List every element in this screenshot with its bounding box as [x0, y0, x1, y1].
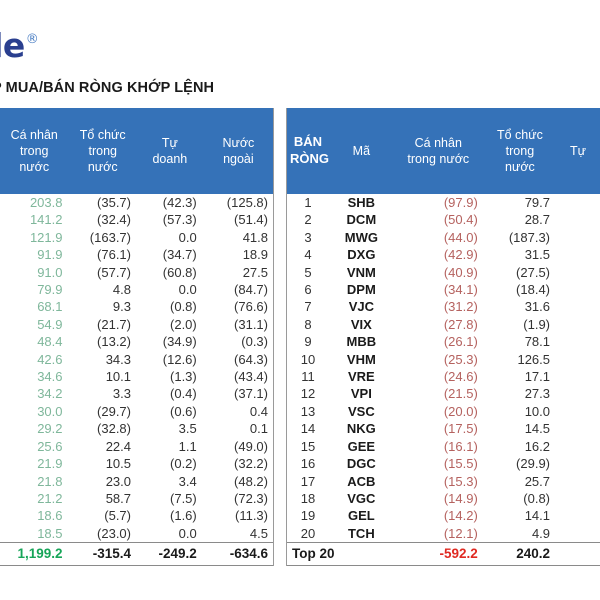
- cell-rank: 20: [286, 525, 330, 543]
- cell-nuoc-ngoai: 18.9: [203, 246, 274, 263]
- cell-to-chuc-trong-nuoc: 10.0: [484, 403, 556, 420]
- cell-ca-nhan-trong-nuoc: 91.0: [0, 264, 69, 281]
- net-sell-table-header: BÁN RÒNG Mã Cá nhân trong nước Tổ chức t…: [286, 108, 600, 194]
- cell-to-chuc-trong-nuoc: 10.1: [69, 368, 138, 385]
- cell-ma[interactable]: VSC: [330, 403, 393, 420]
- cell-ma[interactable]: VNM: [330, 264, 393, 281]
- net-sell-table-body: 1SHB(97.9)79.72DCM(50.4)28.73MWG(44.0)(1…: [286, 194, 600, 543]
- cell-to-chuc-trong-nuoc: 4.8: [69, 281, 138, 298]
- cell-rank: 8: [286, 316, 330, 333]
- cell-tu-doanh-truncated: [556, 438, 600, 455]
- cell-tu-doanh: (0.4): [137, 385, 203, 402]
- total-label-top20: Top 20: [286, 543, 393, 566]
- cell-rank: 17: [286, 473, 330, 490]
- cell-tu-doanh: (12.6): [137, 351, 203, 368]
- table-row: 10VHM(25.3)126.5: [286, 351, 600, 368]
- cell-tu-doanh-truncated: [556, 455, 600, 472]
- cell-ma[interactable]: VGC: [330, 490, 393, 507]
- cell-ca-nhan-trong-nuoc: 54.9: [0, 316, 69, 333]
- total-to-chuc-trong-nuoc: -315.4: [69, 543, 138, 566]
- net-buy-panel: Cá nhân trong nước Tổ chức trong nước Tự…: [0, 108, 274, 566]
- net-sell-table-footer: Top 20 -592.2 240.2: [286, 543, 600, 566]
- logo-wordmark: ade: [0, 29, 25, 62]
- cell-nuoc-ngoai: (11.3): [203, 507, 274, 524]
- header-label: Mã: [353, 144, 370, 158]
- cell-rank: 14: [286, 420, 330, 437]
- table-row: 34.610.1(1.3)(43.4): [0, 368, 274, 385]
- cell-rank: 18: [286, 490, 330, 507]
- cell-to-chuc-trong-nuoc: (57.7): [69, 264, 138, 281]
- table-row: 13VSC(20.0)10.0: [286, 403, 600, 420]
- cell-nuoc-ngoai: (37.1): [203, 385, 274, 402]
- cell-to-chuc-trong-nuoc: (76.1): [69, 246, 138, 263]
- cell-to-chuc-trong-nuoc: (18.4): [484, 281, 556, 298]
- cell-ca-nhan-trong-nuoc: (16.1): [393, 438, 484, 455]
- cell-to-chuc-trong-nuoc: (0.8): [484, 490, 556, 507]
- total-nuoc-ngoai: -634.6: [203, 543, 274, 566]
- cell-nuoc-ngoai: (51.4): [203, 211, 274, 228]
- table-row: 7VJC(31.2)31.6: [286, 298, 600, 315]
- cell-ca-nhan-trong-nuoc: (25.3): [393, 351, 484, 368]
- col-header-tu-doanh: Tự doanh: [137, 108, 203, 194]
- net-buy-table-body: 203.8(35.7)(42.3)(125.8)141.2(32.4)(57.3…: [0, 194, 274, 543]
- cell-to-chuc-trong-nuoc: (35.7): [69, 194, 138, 211]
- header-label: Cá nhân trong nước: [407, 136, 469, 166]
- header-label: BÁN RÒNG: [290, 134, 329, 166]
- cell-to-chuc-trong-nuoc: (21.7): [69, 316, 138, 333]
- table-row: 79.94.80.0(84.7): [0, 281, 274, 298]
- cell-ca-nhan-trong-nuoc: 34.6: [0, 368, 69, 385]
- table-row: 91.9(76.1)(34.7)18.9: [0, 246, 274, 263]
- cell-ma[interactable]: VPI: [330, 385, 393, 402]
- cell-rank: 15: [286, 438, 330, 455]
- cell-to-chuc-trong-nuoc: (163.7): [69, 229, 138, 246]
- table-row: 34.23.3(0.4)(37.1): [0, 385, 274, 402]
- cell-tu-doanh: 0.0: [137, 229, 203, 246]
- brand-logo: ade ®: [0, 26, 39, 62]
- cell-to-chuc-trong-nuoc: (187.3): [484, 229, 556, 246]
- cell-rank: 3: [286, 229, 330, 246]
- cell-tu-doanh-truncated: [556, 385, 600, 402]
- cell-to-chuc-trong-nuoc: (13.2): [69, 333, 138, 350]
- total-tu-doanh-blank: [556, 543, 600, 566]
- cell-ma[interactable]: ACB: [330, 473, 393, 490]
- cell-rank: 10: [286, 351, 330, 368]
- cell-tu-doanh: 0.0: [137, 525, 203, 543]
- cell-to-chuc-trong-nuoc: 16.2: [484, 438, 556, 455]
- cell-nuoc-ngoai: (48.2): [203, 473, 274, 490]
- cell-ca-nhan-trong-nuoc: 30.0: [0, 403, 69, 420]
- table-row: 91.0(57.7)(60.8)27.5: [0, 264, 274, 281]
- table-row: 2DCM(50.4)28.7: [286, 211, 600, 228]
- table-row: 15GEE(16.1)16.2: [286, 438, 600, 455]
- cell-to-chuc-trong-nuoc: (29.9): [484, 455, 556, 472]
- cell-to-chuc-trong-nuoc: (5.7): [69, 507, 138, 524]
- cell-tu-doanh-truncated: [556, 507, 600, 524]
- cell-to-chuc-trong-nuoc: (29.7): [69, 403, 138, 420]
- cell-tu-doanh-truncated: [556, 281, 600, 298]
- cell-tu-doanh: (1.3): [137, 368, 203, 385]
- cell-to-chuc-trong-nuoc: 78.1: [484, 333, 556, 350]
- cell-ca-nhan-trong-nuoc: (97.9): [393, 194, 484, 211]
- cell-to-chuc-trong-nuoc: 3.3: [69, 385, 138, 402]
- cell-ma[interactable]: NKG: [330, 420, 393, 437]
- cell-ma[interactable]: MBB: [330, 333, 393, 350]
- cell-to-chuc-trong-nuoc: (1.9): [484, 316, 556, 333]
- table-row: 29.2(32.8)3.50.1: [0, 420, 274, 437]
- cell-tu-doanh-truncated: [556, 316, 600, 333]
- table-row: 8VIX(27.8)(1.9): [286, 316, 600, 333]
- total-to-chuc-trong-nuoc: 240.2: [484, 543, 556, 566]
- cell-tu-doanh: (0.8): [137, 298, 203, 315]
- cell-ca-nhan-trong-nuoc: (21.5): [393, 385, 484, 402]
- cell-to-chuc-trong-nuoc: (32.4): [69, 211, 138, 228]
- cell-ma[interactable]: VRE: [330, 368, 393, 385]
- cell-ca-nhan-trong-nuoc: (27.8): [393, 316, 484, 333]
- header-row: Cá nhân trong nước Tổ chức trong nước Tự…: [0, 108, 274, 194]
- cell-tu-doanh: (57.3): [137, 211, 203, 228]
- table-row: 30.0(29.7)(0.6)0.4: [0, 403, 274, 420]
- table-row: 5VNM(40.9)(27.5): [286, 264, 600, 281]
- cell-ca-nhan-trong-nuoc: (15.3): [393, 473, 484, 490]
- cell-ma[interactable]: VHM: [330, 351, 393, 368]
- cell-to-chuc-trong-nuoc: 9.3: [69, 298, 138, 315]
- cell-tu-doanh-truncated: [556, 264, 600, 281]
- col-header-ma: Mã: [330, 108, 393, 194]
- header-label: Tự doanh: [152, 136, 187, 166]
- cell-ca-nhan-trong-nuoc: 18.5: [0, 525, 69, 543]
- col-header-to-chuc-trong-nuoc: Tổ chức trong nước: [69, 108, 138, 194]
- table-row: 20TCH(12.1)4.9: [286, 525, 600, 543]
- cell-tu-doanh-truncated: [556, 473, 600, 490]
- table-row: 18.5(23.0)0.04.5: [0, 525, 274, 543]
- table-row: 141.2(32.4)(57.3)(51.4): [0, 211, 274, 228]
- cell-ca-nhan-trong-nuoc: 79.9: [0, 281, 69, 298]
- cell-rank: 7: [286, 298, 330, 315]
- cell-ca-nhan-trong-nuoc: 203.8: [0, 194, 69, 211]
- registered-trademark-icon: ®: [26, 33, 39, 46]
- table-row: 19GEL(14.2)14.1: [286, 507, 600, 524]
- table-row: 48.4(13.2)(34.9)(0.3): [0, 333, 274, 350]
- cell-nuoc-ngoai: (32.2): [203, 455, 274, 472]
- cell-ca-nhan-trong-nuoc: (44.0): [393, 229, 484, 246]
- cell-tu-doanh-truncated: [556, 490, 600, 507]
- cell-rank: 2: [286, 211, 330, 228]
- cell-nuoc-ngoai: (49.0): [203, 438, 274, 455]
- header-label: Tổ chức trong nước: [497, 128, 543, 174]
- table-row: 3MWG(44.0)(187.3): [286, 229, 600, 246]
- table-row: 14NKG(17.5)14.5: [286, 420, 600, 437]
- net-sell-panel: BÁN RÒNG Mã Cá nhân trong nước Tổ chức t…: [286, 108, 600, 566]
- col-header-ban-rong: BÁN RÒNG: [286, 108, 330, 194]
- totals-row: Top 20 -592.2 240.2: [286, 543, 600, 566]
- cell-tu-doanh: 1.1: [137, 438, 203, 455]
- cell-tu-doanh-truncated: [556, 298, 600, 315]
- cell-rank: 11: [286, 368, 330, 385]
- col-header-tu-doanh-truncated: Tự: [556, 108, 600, 194]
- cell-ma[interactable]: DCM: [330, 211, 393, 228]
- cell-nuoc-ngoai: 41.8: [203, 229, 274, 246]
- cell-tu-doanh-truncated: [556, 194, 600, 211]
- cell-ca-nhan-trong-nuoc: 141.2: [0, 211, 69, 228]
- cell-to-chuc-trong-nuoc: 25.7: [484, 473, 556, 490]
- cell-tu-doanh: (34.7): [137, 246, 203, 263]
- cell-tu-doanh-truncated: [556, 351, 600, 368]
- table-row: 68.19.3(0.8)(76.6): [0, 298, 274, 315]
- cell-nuoc-ngoai: 4.5: [203, 525, 274, 543]
- header-label: Nước ngoài: [222, 136, 254, 166]
- table-row: 6DPM(34.1)(18.4): [286, 281, 600, 298]
- net-buy-table-header: Cá nhân trong nước Tổ chức trong nước Tự…: [0, 108, 274, 194]
- cell-to-chuc-trong-nuoc: 22.4: [69, 438, 138, 455]
- col-header-ca-nhan-trong-nuoc: Cá nhân trong nước: [393, 108, 484, 194]
- cell-to-chuc-trong-nuoc: 14.1: [484, 507, 556, 524]
- cell-nuoc-ngoai: (84.7): [203, 281, 274, 298]
- cell-ma[interactable]: DXG: [330, 246, 393, 263]
- cell-rank: 19: [286, 507, 330, 524]
- totals-row: 1,199.2 -315.4 -249.2 -634.6: [0, 543, 274, 566]
- table-row: 1SHB(97.9)79.7: [286, 194, 600, 211]
- cell-ca-nhan-trong-nuoc: 18.6: [0, 507, 69, 524]
- cell-ca-nhan-trong-nuoc: 48.4: [0, 333, 69, 350]
- cell-tu-doanh: (1.6): [137, 507, 203, 524]
- cell-ca-nhan-trong-nuoc: (42.9): [393, 246, 484, 263]
- cell-nuoc-ngoai: 27.5: [203, 264, 274, 281]
- cell-nuoc-ngoai: (64.3): [203, 351, 274, 368]
- panel-divider: [286, 108, 287, 566]
- cell-ca-nhan-trong-nuoc: (31.2): [393, 298, 484, 315]
- cell-nuoc-ngoai: 0.1: [203, 420, 274, 437]
- col-header-ca-nhan-trong-nuoc: Cá nhân trong nước: [0, 108, 69, 194]
- page-title: P MUA/BÁN RÒNG KHỚP LỆNH: [0, 80, 214, 96]
- cell-ca-nhan-trong-nuoc: (34.1): [393, 281, 484, 298]
- cell-to-chuc-trong-nuoc: 27.3: [484, 385, 556, 402]
- cell-to-chuc-trong-nuoc: 34.3: [69, 351, 138, 368]
- cell-ma[interactable]: DPM: [330, 281, 393, 298]
- cell-to-chuc-trong-nuoc: 28.7: [484, 211, 556, 228]
- table-row: 18VGC(14.9)(0.8): [286, 490, 600, 507]
- cell-tu-doanh-truncated: [556, 229, 600, 246]
- cell-ca-nhan-trong-nuoc: (14.9): [393, 490, 484, 507]
- cell-ca-nhan-trong-nuoc: 21.8: [0, 473, 69, 490]
- cell-ma[interactable]: GEL: [330, 507, 393, 524]
- table-row: 16DGC(15.5)(29.9): [286, 455, 600, 472]
- total-ca-nhan-trong-nuoc: -592.2: [393, 543, 484, 566]
- cell-tu-doanh: 3.4: [137, 473, 203, 490]
- cell-ca-nhan-trong-nuoc: (50.4): [393, 211, 484, 228]
- cell-to-chuc-trong-nuoc: 23.0: [69, 473, 138, 490]
- cell-ma[interactable]: TCH: [330, 525, 393, 543]
- table-row: 25.622.41.1(49.0): [0, 438, 274, 455]
- cell-nuoc-ngoai: (43.4): [203, 368, 274, 385]
- table-row: 12VPI(21.5)27.3: [286, 385, 600, 402]
- cell-tu-doanh-truncated: [556, 368, 600, 385]
- cell-ca-nhan-trong-nuoc: (20.0): [393, 403, 484, 420]
- cell-ca-nhan-trong-nuoc: (14.2): [393, 507, 484, 524]
- cell-ma[interactable]: GEE: [330, 438, 393, 455]
- table-row: 21.910.5(0.2)(32.2): [0, 455, 274, 472]
- cell-ma[interactable]: DGC: [330, 455, 393, 472]
- cell-tu-doanh: (7.5): [137, 490, 203, 507]
- cell-rank: 5: [286, 264, 330, 281]
- cell-tu-doanh-truncated: [556, 246, 600, 263]
- cell-ca-nhan-trong-nuoc: 91.9: [0, 246, 69, 263]
- cell-tu-doanh-truncated: [556, 333, 600, 350]
- cell-nuoc-ngoai: (72.3): [203, 490, 274, 507]
- cell-tu-doanh: 3.5: [137, 420, 203, 437]
- cell-nuoc-ngoai: (125.8): [203, 194, 274, 211]
- cell-tu-doanh-truncated: [556, 211, 600, 228]
- cell-ca-nhan-trong-nuoc: (17.5): [393, 420, 484, 437]
- cell-nuoc-ngoai: (31.1): [203, 316, 274, 333]
- cell-ca-nhan-trong-nuoc: 21.2: [0, 490, 69, 507]
- cell-nuoc-ngoai: (0.3): [203, 333, 274, 350]
- header-label: Tự: [570, 144, 586, 158]
- cell-ca-nhan-trong-nuoc: (15.5): [393, 455, 484, 472]
- cell-rank: 4: [286, 246, 330, 263]
- cell-tu-doanh: (60.8): [137, 264, 203, 281]
- table-row: 4DXG(42.9)31.5: [286, 246, 600, 263]
- cell-to-chuc-trong-nuoc: (32.8): [69, 420, 138, 437]
- cell-tu-doanh: 0.0: [137, 281, 203, 298]
- cell-tu-doanh-truncated: [556, 525, 600, 543]
- table-row: 21.823.03.4(48.2): [0, 473, 274, 490]
- cell-tu-doanh-truncated: [556, 420, 600, 437]
- table-row: 17ACB(15.3)25.7: [286, 473, 600, 490]
- cell-ma[interactable]: VIX: [330, 316, 393, 333]
- table-row: 42.634.3(12.6)(64.3): [0, 351, 274, 368]
- cell-to-chuc-trong-nuoc: 79.7: [484, 194, 556, 211]
- tables-container: Cá nhân trong nước Tổ chức trong nước Tự…: [0, 108, 600, 566]
- cell-ca-nhan-trong-nuoc: 42.6: [0, 351, 69, 368]
- total-ca-nhan-trong-nuoc: 1,199.2: [0, 543, 69, 566]
- cell-rank: 1: [286, 194, 330, 211]
- cell-ca-nhan-trong-nuoc: 29.2: [0, 420, 69, 437]
- table-row: 18.6(5.7)(1.6)(11.3): [0, 507, 274, 524]
- header-row: BÁN RÒNG Mã Cá nhân trong nước Tổ chức t…: [286, 108, 600, 194]
- cell-ma[interactable]: SHB: [330, 194, 393, 211]
- cell-ca-nhan-trong-nuoc: (12.1): [393, 525, 484, 543]
- cell-to-chuc-trong-nuoc: 4.9: [484, 525, 556, 543]
- header-label: Cá nhân trong nước: [11, 128, 58, 174]
- cell-to-chuc-trong-nuoc: (23.0): [69, 525, 138, 543]
- panel-divider: [273, 108, 274, 566]
- cell-nuoc-ngoai: (76.6): [203, 298, 274, 315]
- cell-ca-nhan-trong-nuoc: 121.9: [0, 229, 69, 246]
- net-buy-table: Cá nhân trong nước Tổ chức trong nước Tự…: [0, 108, 274, 566]
- cell-rank: 12: [286, 385, 330, 402]
- cell-rank: 16: [286, 455, 330, 472]
- net-buy-table-footer: 1,199.2 -315.4 -249.2 -634.6: [0, 543, 274, 566]
- table-row: 21.258.7(7.5)(72.3): [0, 490, 274, 507]
- cell-ca-nhan-trong-nuoc: 21.9: [0, 455, 69, 472]
- cell-ca-nhan-trong-nuoc: (40.9): [393, 264, 484, 281]
- cell-tu-doanh: (0.6): [137, 403, 203, 420]
- cell-ca-nhan-trong-nuoc: 68.1: [0, 298, 69, 315]
- cell-ca-nhan-trong-nuoc: 34.2: [0, 385, 69, 402]
- cell-nuoc-ngoai: 0.4: [203, 403, 274, 420]
- cell-tu-doanh: (0.2): [137, 455, 203, 472]
- table-row: 203.8(35.7)(42.3)(125.8): [0, 194, 274, 211]
- cell-tu-doanh-truncated: [556, 403, 600, 420]
- cell-ca-nhan-trong-nuoc: 25.6: [0, 438, 69, 455]
- table-row: 121.9(163.7)0.041.8: [0, 229, 274, 246]
- cell-ca-nhan-trong-nuoc: (24.6): [393, 368, 484, 385]
- cell-tu-doanh: (34.9): [137, 333, 203, 350]
- cell-to-chuc-trong-nuoc: (27.5): [484, 264, 556, 281]
- table-row: 11VRE(24.6)17.1: [286, 368, 600, 385]
- cell-to-chuc-trong-nuoc: 31.5: [484, 246, 556, 263]
- cell-rank: 9: [286, 333, 330, 350]
- cell-to-chuc-trong-nuoc: 126.5: [484, 351, 556, 368]
- table-row: 54.9(21.7)(2.0)(31.1): [0, 316, 274, 333]
- cell-to-chuc-trong-nuoc: 14.5: [484, 420, 556, 437]
- cell-to-chuc-trong-nuoc: 10.5: [69, 455, 138, 472]
- col-header-to-chuc-trong-nuoc: Tổ chức trong nước: [484, 108, 556, 194]
- cell-ma[interactable]: VJC: [330, 298, 393, 315]
- cell-tu-doanh: (2.0): [137, 316, 203, 333]
- table-row: 9MBB(26.1)78.1: [286, 333, 600, 350]
- cell-to-chuc-trong-nuoc: 17.1: [484, 368, 556, 385]
- cell-rank: 13: [286, 403, 330, 420]
- net-sell-table: BÁN RÒNG Mã Cá nhân trong nước Tổ chức t…: [286, 108, 600, 566]
- total-tu-doanh: -249.2: [137, 543, 203, 566]
- cell-ma[interactable]: MWG: [330, 229, 393, 246]
- cell-tu-doanh: (42.3): [137, 194, 203, 211]
- cell-to-chuc-trong-nuoc: 58.7: [69, 490, 138, 507]
- header-label: Tổ chức trong nước: [80, 128, 126, 174]
- col-header-nuoc-ngoai: Nước ngoài: [203, 108, 274, 194]
- cell-rank: 6: [286, 281, 330, 298]
- cell-to-chuc-trong-nuoc: 31.6: [484, 298, 556, 315]
- cell-ca-nhan-trong-nuoc: (26.1): [393, 333, 484, 350]
